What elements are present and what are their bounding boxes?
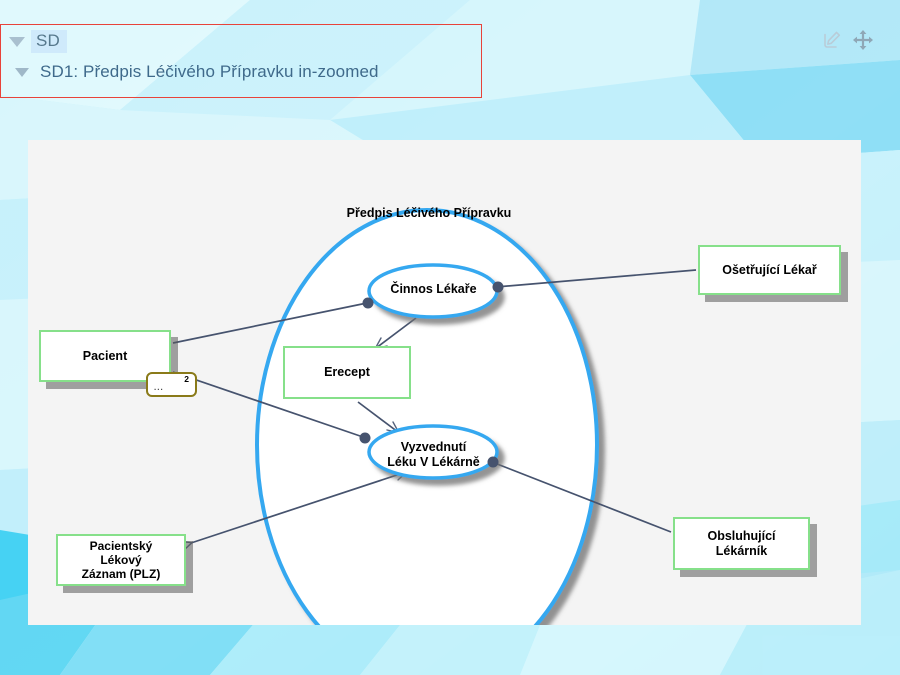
edit-pencil-icon[interactable] <box>822 30 842 50</box>
caret-down-icon[interactable] <box>15 68 29 77</box>
connection-point <box>363 298 374 309</box>
connection-point <box>360 433 371 444</box>
box-erecept-label: Erecept <box>324 365 370 380</box>
box-erecept[interactable]: Erecept <box>283 346 411 399</box>
box-obsluhujici-lekarnik[interactable]: Obsluhující Lékárník <box>673 517 810 570</box>
outline-panel: SD SD1: Předpis Léčivého Přípravku in-zo… <box>0 24 482 98</box>
tree-row-sd1[interactable]: SD1: Předpis Léčivého Přípravku in-zoome… <box>15 62 379 82</box>
box-osetrujici-lekar-label: Ošetřující Lékař <box>722 263 817 278</box>
box-plz-line1: Pacientský <box>90 539 153 553</box>
box-pacientsky-lekovy-zaznam[interactable]: Pacientský Lékový Záznam (PLZ) <box>56 534 186 586</box>
app-window: SD SD1: Předpis Léčivého Přípravku in-zo… <box>0 0 900 675</box>
box-obsluhujici-line2: Lékárník <box>716 544 767 558</box>
box-pacient[interactable]: Pacient 2 ... <box>39 330 171 382</box>
tree-row-sd[interactable]: SD <box>9 30 67 53</box>
diagram-canvas[interactable]: Předpis Léčivého Přípravku Činnos Lékaře… <box>28 140 861 625</box>
connection-point <box>488 457 499 468</box>
caret-down-icon[interactable] <box>9 37 25 47</box>
ellipse-cinnos-lekare[interactable] <box>369 265 497 317</box>
box-pacient-label: Pacient <box>83 349 127 364</box>
box-obsluhujici-lekarnik-label: Obsluhující Lékárník <box>707 529 775 559</box>
ellipse-vyzvednuti-leku[interactable] <box>369 426 497 478</box>
multiplicity-badge[interactable]: 2 ... <box>146 372 197 397</box>
box-obsluhujici-line1: Obsluhující <box>707 529 775 543</box>
move-arrows-icon[interactable] <box>852 29 874 51</box>
box-plz-label: Pacientský Lékový Záznam (PLZ) <box>82 539 161 581</box>
multiplicity-count: 2 <box>184 374 189 384</box>
box-plz-line2: Lékový <box>100 553 141 567</box>
tree-label-sd1[interactable]: SD1: Předpis Léčivého Přípravku in-zoome… <box>35 62 379 82</box>
tree-label-sd[interactable]: SD <box>31 30 67 53</box>
box-osetrujici-lekar[interactable]: Ošetřující Lékař <box>698 245 841 295</box>
multiplicity-dots: ... <box>154 384 164 392</box>
connection-point <box>493 282 504 293</box>
box-plz-line3: Záznam (PLZ) <box>82 567 161 581</box>
header-icon-group <box>822 29 874 51</box>
